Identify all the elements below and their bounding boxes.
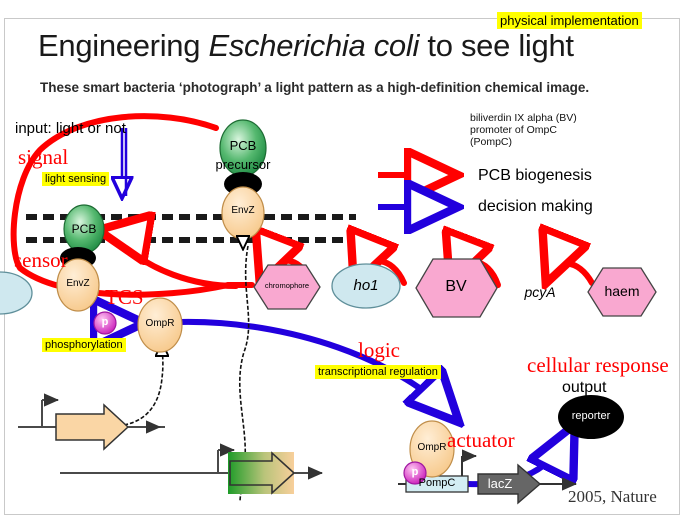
phosphate-node-actuator bbox=[404, 462, 426, 484]
label-tcs: TCS bbox=[105, 285, 144, 310]
label-light-sensing: light sensing bbox=[42, 172, 109, 186]
label-phosphorylation: phosphorylation bbox=[42, 338, 126, 352]
diagram-svg bbox=[0, 0, 690, 522]
envz-node-top bbox=[222, 187, 264, 239]
reporter-node bbox=[558, 395, 624, 439]
sidenote-line-2: promoter of OmpC bbox=[470, 124, 577, 136]
precursor-complex bbox=[220, 120, 266, 248]
node-chromophore bbox=[254, 265, 320, 309]
title-suffix: to see light bbox=[419, 28, 574, 63]
gene-box-green bbox=[228, 452, 294, 494]
node-pcya bbox=[0, 272, 32, 314]
legend-label-pcb-biogenesis: PCB biogenesis bbox=[478, 167, 592, 185]
label-cellular-response: cellular response bbox=[527, 353, 669, 378]
label-transcriptional-regulation: transcriptional regulation bbox=[315, 365, 441, 379]
label-sensor: sensor bbox=[14, 248, 68, 273]
blue-signal-input bbox=[122, 128, 126, 196]
label-input: input: light or not bbox=[15, 120, 126, 137]
label-logic: logic bbox=[358, 338, 400, 363]
label-signal: signal bbox=[18, 145, 68, 170]
gene-arrow-peach bbox=[56, 405, 128, 449]
page-subtitle: These smart bacteria ‘photograph’ a ligh… bbox=[40, 80, 589, 95]
page-title: Engineering Escherichia coli to see ligh… bbox=[38, 28, 574, 64]
title-species: Escherichia coli bbox=[208, 28, 419, 63]
credit-source: 2005, Nature bbox=[568, 487, 657, 507]
node-haem bbox=[588, 268, 656, 316]
legend-label-decision-making: decision making bbox=[478, 198, 593, 216]
sensor-complex-left bbox=[57, 205, 182, 352]
pcb-node-membrane bbox=[64, 205, 104, 253]
decision-making-paths bbox=[110, 322, 572, 484]
legend-arrows bbox=[378, 175, 452, 207]
gene-construct-ompr bbox=[18, 400, 165, 449]
label-output: output bbox=[562, 379, 606, 397]
red-arrow-haem-to-pcya bbox=[548, 264, 592, 283]
badge-physical-implementation: physical implementation bbox=[497, 12, 642, 29]
phosphate-node-sensor bbox=[94, 312, 116, 334]
gene-construct-envz bbox=[60, 450, 322, 494]
node-bv bbox=[416, 259, 497, 317]
sidenote-line-3: (PompC) bbox=[470, 136, 577, 148]
ompr-node-cytoplasm bbox=[138, 298, 182, 352]
pcb-precursor-node bbox=[220, 120, 266, 176]
slide-canvas: Engineering Escherichia coli to see ligh… bbox=[0, 0, 690, 522]
label-actuator: actuator bbox=[447, 428, 515, 453]
wavy-gene-to-ompr bbox=[124, 344, 163, 425]
sidenote-block: biliverdin IX alpha (BV) promoter of Omp… bbox=[470, 112, 577, 148]
sidenote-line-1: biliverdin IX alpha (BV) bbox=[470, 112, 577, 124]
node-ho1 bbox=[332, 264, 400, 308]
title-prefix: Engineering bbox=[38, 28, 208, 63]
